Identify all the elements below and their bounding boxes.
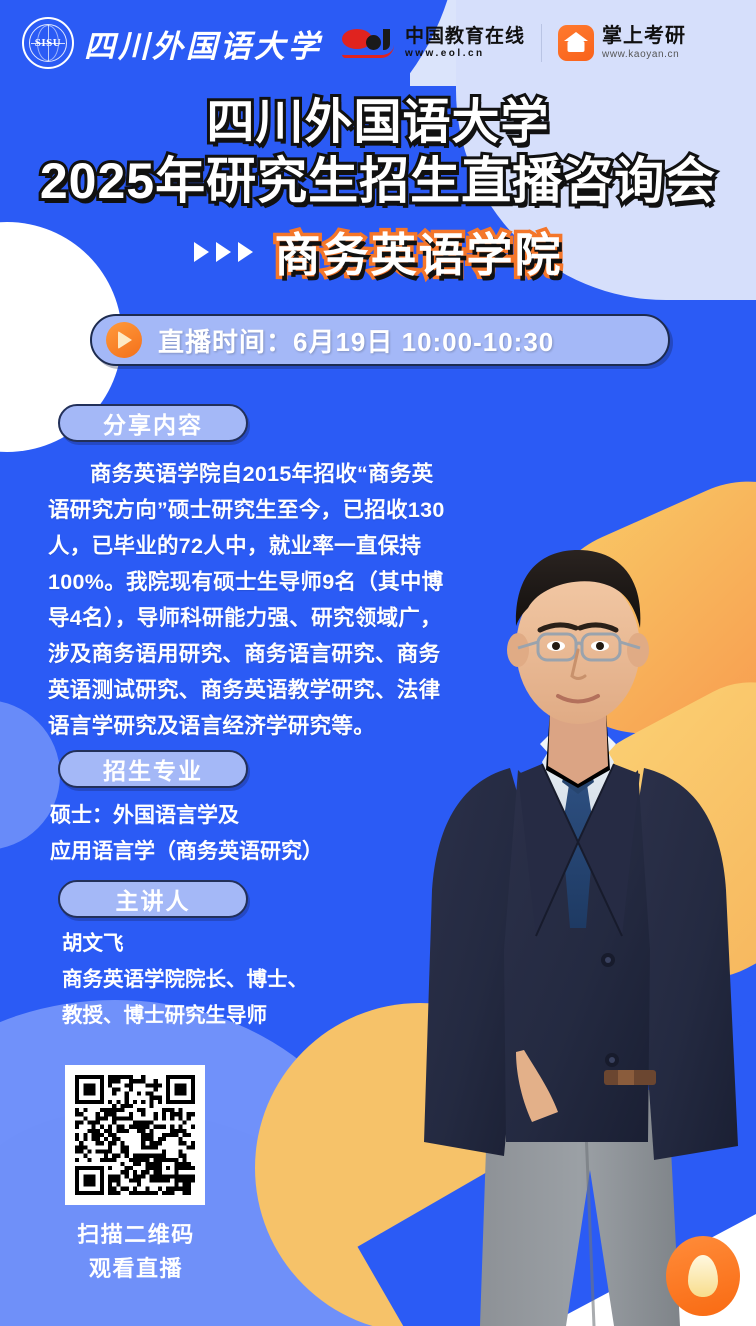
university-seal-icon: SISU bbox=[22, 17, 74, 69]
seal-ellipse-icon bbox=[37, 25, 59, 61]
eol-mark-icon bbox=[342, 27, 398, 59]
title-line-2: 2025年研究生招生直播咨询会 bbox=[0, 152, 756, 211]
play-circle-icon bbox=[106, 322, 142, 358]
kaoyan-logo: 掌上考研 www.kaoyan.cn bbox=[558, 25, 686, 61]
arrow-right-icon bbox=[216, 242, 231, 262]
qr-code-image[interactable] bbox=[75, 1075, 195, 1195]
header-logo-bar: SISU 四川外国语大学 中国教育在线 www.eol.cn 掌上考研 bbox=[0, 0, 756, 86]
eol-logo: 中国教育在线 www.eol.cn bbox=[342, 27, 525, 59]
live-time-banner: 直播时间：6月19日 10:00-10:30 bbox=[90, 314, 670, 366]
qr-code-card[interactable] bbox=[65, 1065, 205, 1205]
section-pill-major: 招生专业 bbox=[58, 750, 248, 788]
section-pill-speaker: 主讲人 bbox=[58, 880, 248, 918]
eol-name: 中国教育在线 bbox=[405, 27, 525, 46]
cap-top-shape bbox=[564, 32, 588, 41]
arrow-right-icon bbox=[194, 242, 209, 262]
speaker-title-line: 商务英语学院院长、博士、 bbox=[62, 962, 462, 998]
section-pill-share: 分享内容 bbox=[58, 404, 248, 442]
brand-drop-shape bbox=[688, 1255, 718, 1297]
qr-caption-line-2: 观看直播 bbox=[50, 1252, 222, 1286]
kaoyan-url: www.kaoyan.cn bbox=[602, 50, 686, 60]
title-line-1: 四川外国语大学 bbox=[0, 96, 756, 150]
live-time-label: 直播时间：6月19日 10:00-10:30 bbox=[158, 322, 554, 359]
triple-arrow-icon bbox=[194, 242, 253, 262]
eol-text-block: 中国教育在线 www.eol.cn bbox=[405, 27, 525, 59]
kaoyan-text-block: 掌上考研 www.kaoyan.cn bbox=[602, 26, 686, 60]
major-line: 硕士：外国语言学及 bbox=[50, 798, 450, 834]
eol-url: www.eol.cn bbox=[405, 49, 525, 59]
poster-title: 四川外国语大学 2025年研究生招生直播咨询会 商务英语学院 bbox=[0, 96, 756, 285]
university-name: 四川外国语大学 bbox=[84, 21, 322, 66]
major-line: 应用语言学（商务英语研究） bbox=[50, 834, 450, 870]
title-line-3-row: 商务英语学院 bbox=[0, 219, 756, 285]
kaoyan-name: 掌上考研 bbox=[602, 26, 686, 46]
cap-base-shape bbox=[568, 41, 585, 52]
speaker-title-line: 教授、博士研究生导师 bbox=[62, 998, 462, 1034]
speaker-name: 胡文飞 bbox=[62, 926, 462, 962]
major-content-body: 硕士：外国语言学及 应用语言学（商务英语研究） bbox=[50, 798, 450, 870]
speaker-portrait bbox=[418, 530, 756, 1326]
qr-caption: 扫描二维码 观看直播 bbox=[50, 1218, 222, 1286]
header-divider bbox=[541, 24, 542, 62]
eol-swoosh-shape bbox=[342, 45, 394, 58]
share-content-body: 商务英语学院自2015年招收“商务英语研究方向”硕士研究生至今，已招收130人，… bbox=[48, 456, 452, 744]
poster-root: SISU 四川外国语大学 中国教育在线 www.eol.cn 掌上考研 bbox=[0, 0, 756, 1326]
arrow-right-icon bbox=[238, 242, 253, 262]
title-line-3: 商务英语学院 bbox=[275, 219, 563, 285]
qr-caption-line-1: 扫描二维码 bbox=[50, 1218, 222, 1252]
speaker-content-body: 胡文飞 商务英语学院院长、博士、 教授、博士研究生导师 bbox=[62, 926, 462, 1034]
seal-abbr: SISU bbox=[24, 37, 72, 49]
brand-mark-icon bbox=[666, 1236, 740, 1316]
graduation-cap-icon bbox=[558, 25, 594, 61]
